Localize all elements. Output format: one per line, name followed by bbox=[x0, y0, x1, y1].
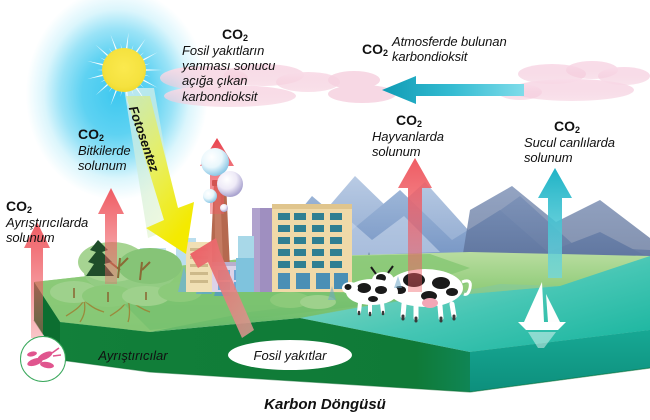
co2-formula: CO2 bbox=[222, 26, 275, 43]
label-animals-respiration-text: Hayvanlarda solunum bbox=[372, 129, 444, 160]
fossil-fuels-badge-label: Fosil yakıtlar bbox=[254, 348, 327, 363]
atmosphere-co2-arrow bbox=[382, 76, 524, 104]
label-aquatic-respiration: CO2 Sucul canlılarda solunum bbox=[524, 118, 615, 165]
co2-formula: CO2 bbox=[362, 34, 388, 58]
co2-formula: CO2 bbox=[396, 112, 444, 129]
aquatic-respiration-arrow bbox=[538, 168, 572, 278]
label-decomposers-respiration: CO2 Ayrıştırıcılarda solunum bbox=[6, 198, 88, 245]
label-plants-respiration-text: Bitkilerde solunum bbox=[78, 143, 130, 174]
plants-respiration-arrow bbox=[98, 188, 124, 284]
smoke-bubbles-icon bbox=[196, 146, 252, 218]
animals-respiration-arrow bbox=[398, 158, 432, 292]
diagram-caption: Karbon Döngüsü bbox=[0, 396, 650, 413]
carbon-cycle-diagram: Ayrıştırıcılar Fosil yakıtlar CO2 Bitkil… bbox=[0, 0, 650, 420]
label-plants-respiration: CO2 Bitkilerde solunum bbox=[78, 126, 130, 173]
label-animals-respiration: CO2 Hayvanlarda solunum bbox=[372, 112, 444, 159]
label-atmosphere-co2-text: Atmosferde bulunan karbondioksit bbox=[392, 34, 507, 65]
label-aquatic-respiration-text: Sucul canlılarda solunum bbox=[524, 135, 615, 166]
fossil-fuels-badge: Fosil yakıtlar bbox=[228, 340, 352, 370]
co2-formula: CO2 bbox=[6, 198, 88, 215]
decomposers-badge-label: Ayrıştırıcılar bbox=[98, 348, 167, 363]
fossil-fuel-burial-arrow bbox=[188, 238, 268, 352]
label-fossil-fuel-combustion-text: Fosil yakıtların yanması sonucu açığa çı… bbox=[182, 43, 275, 104]
co2-formula: CO2 bbox=[78, 126, 130, 143]
decomposers-badge: Ayrıştırıcılar bbox=[74, 342, 192, 368]
co2-formula: CO2 bbox=[554, 118, 615, 135]
label-decomposers-respiration-text: Ayrıştırıcılarda solunum bbox=[6, 215, 88, 246]
label-fossil-fuel-combustion: CO2 Fosil yakıtların yanması sonucu açığ… bbox=[182, 26, 275, 104]
label-atmosphere-co2: CO2 Atmosferde bulunan karbondioksit bbox=[362, 34, 507, 65]
bacteria-icon bbox=[23, 340, 61, 376]
